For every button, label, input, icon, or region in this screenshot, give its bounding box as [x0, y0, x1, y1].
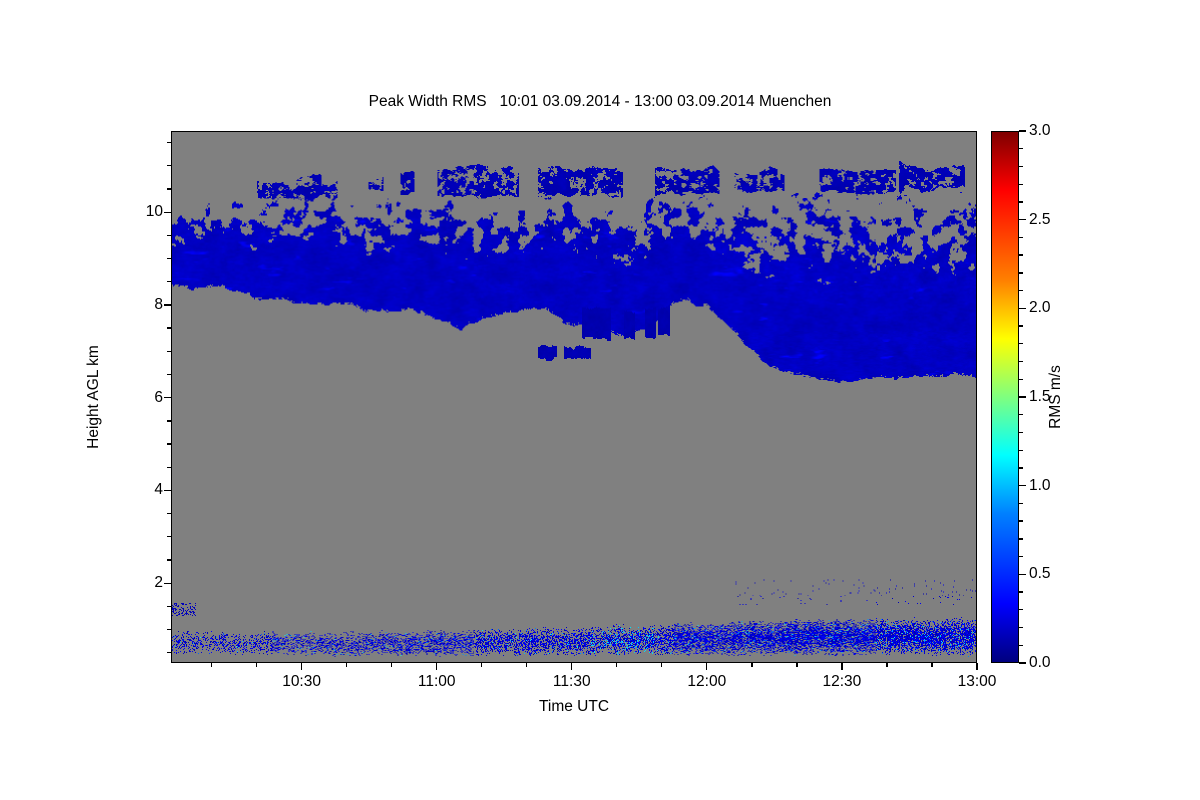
x-tick-minor	[661, 663, 662, 667]
y-tick-minor	[167, 258, 171, 259]
colorbar-tick-minor	[1019, 627, 1023, 628]
colorbar-tick-minor	[1019, 414, 1023, 415]
colorbar-tick-minor	[1019, 538, 1023, 539]
colorbar-tick-minor	[1019, 361, 1023, 362]
colorbar-tick-minor	[1019, 254, 1023, 255]
y-tick-minor	[167, 351, 171, 352]
colorbar-label-2.0: 2.0	[1029, 299, 1051, 317]
colorbar-tick-minor	[1019, 201, 1023, 202]
colorbar-tick-minor	[1019, 237, 1023, 238]
colorbar[interactable]	[991, 131, 1019, 663]
colorbar-tick-minor	[1019, 272, 1023, 273]
y-tick-minor	[167, 188, 171, 189]
x-tick-label-10-30: 10:30	[282, 673, 321, 691]
x-tick-label-11-00: 11:00	[418, 673, 456, 691]
colorbar-label-0.0: 0.0	[1029, 654, 1051, 672]
y-tick-minor	[167, 420, 171, 421]
y-tick-minor	[167, 559, 171, 560]
y-tick-minor	[167, 327, 171, 328]
colorbar-label-3.0: 3.0	[1029, 122, 1051, 140]
figure-canvas: Peak Width RMS 10:01 03.09.2014 - 13:00 …	[0, 0, 1200, 800]
x-tick-12-00	[706, 663, 707, 670]
colorbar-tick-2.5	[1019, 219, 1026, 220]
x-tick-10-30	[301, 663, 302, 670]
colorbar-tick-minor	[1019, 556, 1023, 557]
colorbar-label-2.5: 2.5	[1029, 211, 1051, 229]
colorbar-tick-minor	[1019, 325, 1023, 326]
y-tick-minor	[167, 606, 171, 607]
y-tick-label-6: 6	[154, 389, 163, 407]
colorbar-label-0.5: 0.5	[1029, 565, 1051, 583]
x-tick-minor	[481, 663, 482, 667]
x-tick-minor	[796, 663, 797, 667]
y-tick-minor	[167, 142, 171, 143]
y-tick-minor	[167, 165, 171, 166]
y-tick-label-8: 8	[154, 296, 163, 314]
y-tick-minor	[167, 513, 171, 514]
colorbar-gradient	[992, 132, 1018, 662]
colorbar-tick-minor	[1019, 148, 1023, 149]
y-tick-minor	[167, 467, 171, 468]
x-tick-minor	[526, 663, 527, 667]
colorbar-tick-minor	[1019, 467, 1023, 468]
colorbar-tick-minor	[1019, 645, 1023, 646]
x-tick-label-12-00: 12:00	[687, 673, 726, 691]
x-tick-minor	[346, 663, 347, 667]
colorbar-tick-0.0	[1019, 662, 1026, 663]
x-tick-11-30	[571, 663, 572, 670]
page-title: Peak Width RMS 10:01 03.09.2014 - 13:00 …	[0, 93, 1200, 111]
x-tick-minor	[616, 663, 617, 667]
x-tick-minor	[886, 663, 887, 667]
y-tick-label-2: 2	[154, 574, 163, 592]
y-tick-8	[164, 304, 171, 305]
x-tick-12-30	[841, 663, 842, 670]
colorbar-tick-0.5	[1019, 574, 1026, 575]
y-tick-label-4: 4	[154, 481, 163, 499]
x-tick-minor	[256, 663, 257, 667]
colorbar-tick-minor	[1019, 432, 1023, 433]
colorbar-tick-1.5	[1019, 396, 1026, 397]
y-tick-10	[164, 212, 171, 213]
colorbar-tick-minor	[1019, 485, 1023, 486]
x-tick-minor	[751, 663, 752, 667]
y-tick-minor	[167, 652, 171, 653]
x-tick-minor	[391, 663, 392, 667]
colorbar-tick-minor	[1019, 166, 1023, 167]
x-tick-label-12-30: 12:30	[823, 673, 862, 691]
colorbar-tick-minor	[1019, 290, 1023, 291]
colorbar-tick-minor	[1019, 379, 1023, 380]
colorbar-label-1.5: 1.5	[1029, 388, 1051, 406]
y-tick-minor	[167, 235, 171, 236]
x-tick-minor	[931, 663, 932, 667]
y-tick-6	[164, 397, 171, 398]
y-tick-minor	[167, 374, 171, 375]
colorbar-tick-minor	[1019, 520, 1023, 521]
colorbar-tick-2.0	[1019, 308, 1026, 309]
colorbar-tick-minor	[1019, 591, 1023, 592]
y-tick-minor	[167, 443, 171, 444]
x-tick-11-00	[436, 663, 437, 670]
colorbar-tick-minor	[1019, 450, 1023, 451]
y-tick-minor	[167, 281, 171, 282]
y-axis-title: Height AGL km	[85, 345, 103, 449]
colorbar-tick-minor	[1019, 503, 1023, 504]
colorbar-tick-minor	[1019, 184, 1023, 185]
y-tick-minor	[167, 536, 171, 537]
x-axis-title: Time UTC	[539, 698, 609, 716]
colorbar-tick-minor	[1019, 609, 1023, 610]
y-tick-2	[164, 583, 171, 584]
colorbar-tick-3.0	[1019, 130, 1026, 131]
heatmap-plot-area[interactable]	[171, 131, 977, 663]
x-tick-13-00	[976, 663, 977, 670]
colorbar-label-1.0: 1.0	[1029, 477, 1051, 495]
y-tick-minor	[167, 629, 171, 630]
x-tick-label-13-00: 13:00	[958, 673, 997, 691]
colorbar-tick-minor	[1019, 343, 1023, 344]
pcolor-heatmap	[172, 132, 976, 662]
x-tick-label-11-30: 11:30	[553, 673, 591, 691]
y-tick-4	[164, 490, 171, 491]
y-tick-label-10: 10	[146, 203, 163, 221]
x-tick-minor	[211, 663, 212, 667]
